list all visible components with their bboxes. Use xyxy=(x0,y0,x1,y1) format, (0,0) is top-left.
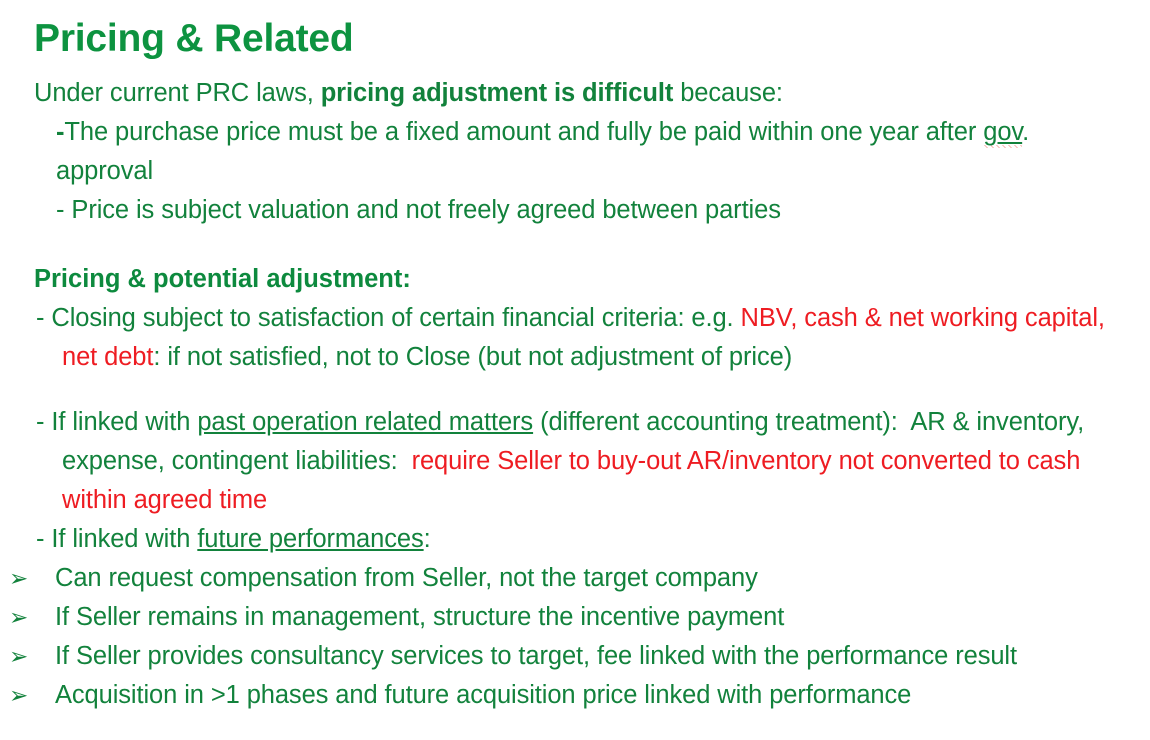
arrow-bullet-icon: ➢ xyxy=(36,559,55,598)
spacer xyxy=(34,230,1124,260)
dash-marker: - xyxy=(36,525,44,553)
intro-emphasis: pricing adjustment is difficult xyxy=(321,79,674,107)
arrow-bullet-phased-acquisition: ➢Acquisition in >1 phases and future acq… xyxy=(36,676,1124,715)
slide-canvas: Pricing & Related Under current PRC laws… xyxy=(0,0,1150,740)
intro-text-before: Under current PRC laws, xyxy=(34,79,321,107)
reason-item-purchase-price: -The purchase price must be a fixed amou… xyxy=(56,113,1124,191)
arrow-bullet-text: If Seller provides consultancy services … xyxy=(55,642,1017,670)
closing-text-green-2: : if not satisfied, not to Close (but no… xyxy=(153,343,792,371)
arrow-bullet-text: Acquisition in >1 phases and future acqu… xyxy=(55,681,911,709)
closing-criteria-item: - Closing subject to satisfaction of cer… xyxy=(36,299,1124,377)
page-title: Pricing & Related xyxy=(34,16,1124,62)
arrow-bullet-consultancy: ➢If Seller provides consultancy services… xyxy=(36,637,1124,676)
reason-text-before-spellcheck: The purchase price must be a fixed amoun… xyxy=(64,118,983,146)
future-underlined-phrase: future performances xyxy=(197,525,423,553)
arrow-bullet-management: ➢If Seller remains in management, struct… xyxy=(36,598,1124,637)
arrow-bullet-icon: ➢ xyxy=(36,676,55,715)
reason-text-after-spellcheck: . xyxy=(1022,118,1029,146)
dash-marker: - xyxy=(36,304,44,332)
reason-wrapped-line: approval xyxy=(56,152,1124,191)
arrow-bullet-text: If Seller remains in management, structu… xyxy=(55,603,784,631)
past-operation-text-before: If linked with xyxy=(51,408,197,436)
closing-text-green-1: Closing subject to satisfaction of certa… xyxy=(51,304,740,332)
reason-text: Price is subject valuation and not freel… xyxy=(71,196,780,224)
future-text-after: : xyxy=(424,525,431,553)
arrow-bullet-compensation: ➢Can request compensation from Seller, n… xyxy=(36,559,1124,598)
past-operation-item: - If linked with past operation related … xyxy=(36,403,1124,520)
spacer xyxy=(34,377,1124,403)
spellcheck-flagged-word: gov xyxy=(983,118,1022,149)
intro-text-after: because: xyxy=(673,79,783,107)
intro-paragraph: Under current PRC laws, pricing adjustme… xyxy=(34,74,1124,113)
dash-marker: - xyxy=(56,196,64,224)
past-operation-underlined-phrase: past operation related matters xyxy=(197,408,533,436)
reason-item-valuation: - Price is subject valuation and not fre… xyxy=(56,191,1124,230)
section-heading-pricing-adjustment: Pricing & potential adjustment: xyxy=(34,260,1124,299)
arrow-bullet-icon: ➢ xyxy=(36,637,55,676)
arrow-bullet-text: Can request compensation from Seller, no… xyxy=(55,564,758,592)
future-performance-item: - If linked with future performances: xyxy=(36,520,1124,559)
arrow-bullet-icon: ➢ xyxy=(36,598,55,637)
future-text-before: If linked with xyxy=(51,525,197,553)
dash-marker: - xyxy=(36,408,44,436)
